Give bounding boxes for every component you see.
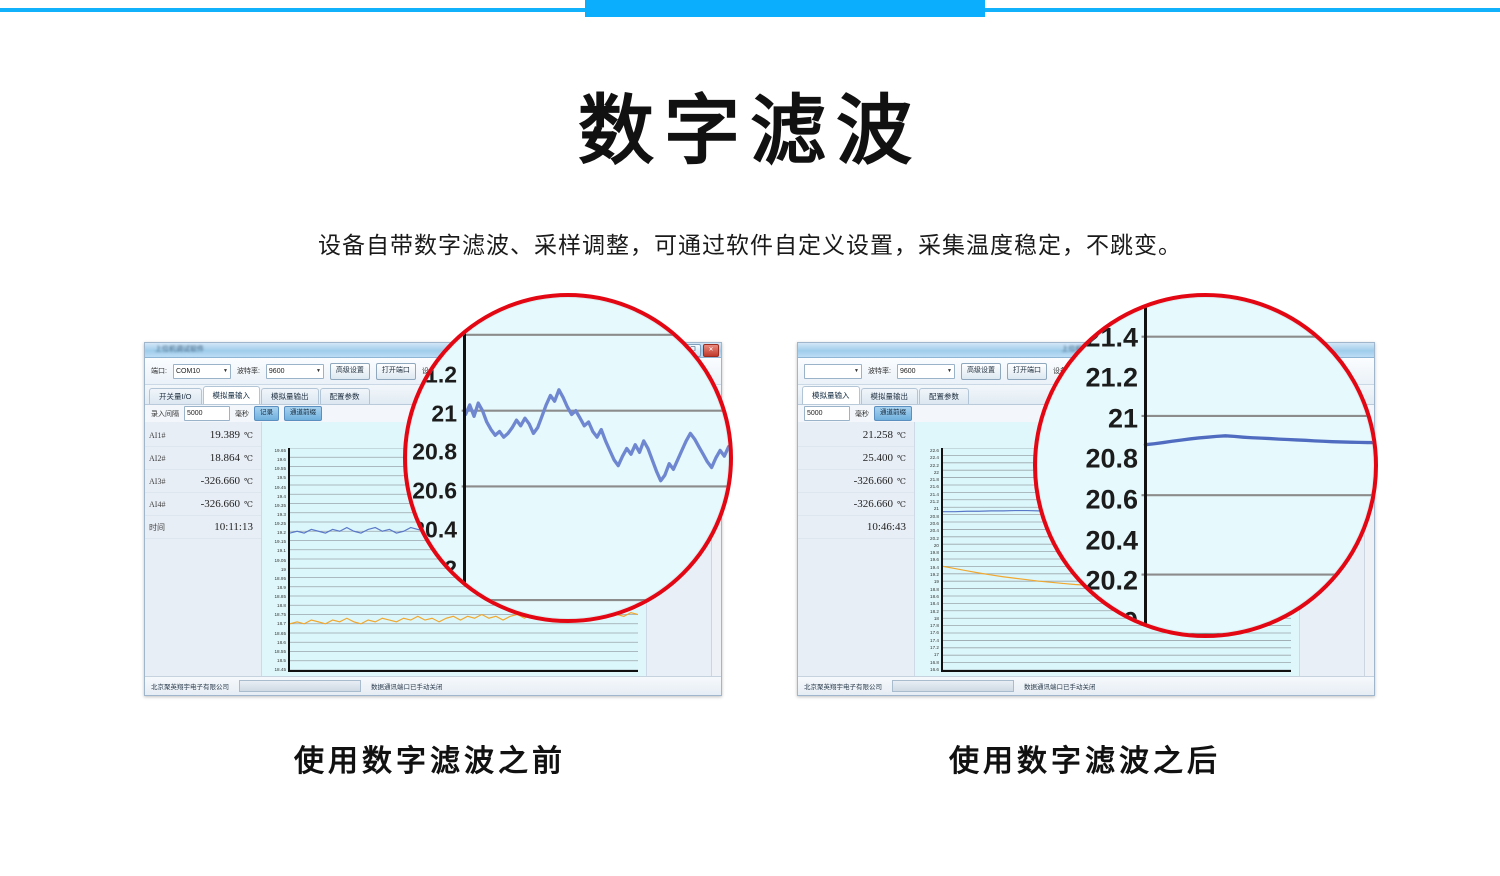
magnifier-content: 21.421.22120.820.620.420.220: [1037, 297, 1374, 634]
y-tick: 19.3: [264, 512, 286, 517]
magnified-y-tick: 21.2: [1085, 363, 1138, 394]
tab-analog-input[interactable]: 模拟量输入: [802, 386, 860, 404]
y-tick: 22.4: [917, 455, 939, 460]
channel-prefix-button[interactable]: 通道前缀: [874, 406, 912, 421]
caption-after: 使用数字滤波之后: [795, 736, 1375, 780]
progress-bar: [892, 680, 1014, 692]
progress-bar: [239, 680, 361, 692]
advanced-settings-button[interactable]: 高级设置: [330, 363, 370, 380]
y-tick: 16.8: [917, 660, 939, 665]
y-tick: 17.4: [917, 638, 939, 643]
y-tick: 18.7: [264, 621, 286, 626]
y-tick: 19.8: [917, 550, 939, 555]
channel-unit: ℃: [244, 500, 253, 509]
y-tick: 18.5: [264, 658, 286, 663]
magnified-y-tick: 21.6: [412, 293, 457, 311]
y-tick: 21: [917, 506, 939, 511]
tab-analog-output[interactable]: 模拟量输出: [861, 388, 919, 404]
magnified-y-tick: 20: [431, 594, 457, 621]
y-tick: 21.6: [917, 484, 939, 489]
y-tick: 21.2: [917, 499, 939, 504]
y-tick: 19.45: [264, 485, 286, 490]
y-tick: 19.65: [264, 448, 286, 453]
y-tick: 18.65: [264, 631, 286, 636]
page-subtitle: 设备自带数字滤波、采样调整，可通过软件自定义设置，采集温度稳定，不跳变。: [0, 226, 1500, 260]
tab-analog-input[interactable]: 模拟量输入: [203, 386, 261, 404]
y-tick: 17.8: [917, 623, 939, 628]
tab-config-params[interactable]: 配置参数: [320, 388, 370, 404]
channel-unit: ℃: [897, 477, 906, 486]
list-item: 10:46:43: [798, 516, 914, 539]
baud-label: 波特率:: [868, 366, 891, 376]
list-item: AI1# 19.389 ℃: [145, 424, 261, 447]
list-item: AI4# -326.660 ℃: [145, 493, 261, 516]
y-tick: 18.55: [264, 649, 286, 654]
list-item: -326.660 ℃: [798, 470, 914, 493]
channel-value: 25.400: [863, 452, 893, 464]
magnified-y-tick: 20.4: [412, 516, 457, 543]
y-tick: 18.6: [917, 594, 939, 599]
tab-config-params[interactable]: 配置参数: [919, 388, 969, 404]
channel-unit: ℃: [897, 431, 906, 440]
page-title: 数字滤波: [0, 94, 1500, 170]
list-item: 25.400 ℃: [798, 447, 914, 470]
magnified-y-tick: 20.4: [1085, 525, 1138, 556]
interval-input[interactable]: 5000: [804, 406, 850, 421]
y-tick: 19.55: [264, 466, 286, 471]
time-value: 10:46:43: [867, 521, 906, 533]
y-tick: 18.6: [264, 640, 286, 645]
baud-select[interactable]: 9600 ▼: [897, 364, 955, 379]
magnified-y-tick: 20.8: [1085, 444, 1138, 475]
baud-select[interactable]: 9600 ▼: [266, 364, 324, 379]
interval-label: 录入间隔: [151, 409, 179, 419]
channel-unit: ℃: [244, 454, 253, 463]
y-tick: 22.2: [917, 463, 939, 468]
company-label: 北京聚英翔宇电子有限公司: [151, 681, 229, 691]
channel-value: -326.660: [201, 498, 240, 510]
y-tick: 18.8: [917, 587, 939, 592]
magnified-y-tick: 21: [431, 400, 457, 427]
magnified-y-tick: 20.6: [412, 478, 457, 505]
list-item: 21.258 ℃: [798, 424, 914, 447]
magnified-y-tick: 20: [1108, 606, 1138, 637]
value-panel-right: 21.258 ℃ 25.400 ℃ -326.660 ℃ -326.660 ℃ …: [798, 422, 915, 696]
y-tick: 19.2: [264, 530, 286, 535]
y-tick: 19.6: [264, 457, 286, 462]
time-value: 10:11:13: [214, 521, 253, 533]
channel-unit: ℃: [244, 431, 253, 440]
list-item: AI2# 18.864 ℃: [145, 447, 261, 470]
channel-value: 21.258: [863, 429, 893, 441]
y-tick: 19.05: [264, 558, 286, 563]
y-tick: 21.4: [917, 492, 939, 497]
magnified-y-tick: 20.2: [1085, 566, 1138, 597]
port-select[interactable]: COM10 ▼: [173, 364, 231, 379]
caption-before: 使用数字滤波之前: [140, 736, 720, 780]
y-tick: 19.25: [264, 521, 286, 526]
channel-prefix-button[interactable]: 通道前缀: [284, 406, 322, 421]
y-tick: 19: [264, 567, 286, 572]
list-item: AI3# -326.660 ℃: [145, 470, 261, 493]
magnifier-before: 21.621.421.22120.820.620.420.220: [403, 293, 733, 623]
y-axis-line: [463, 297, 466, 619]
baud-label: 波特率:: [237, 366, 260, 376]
channel-value: 18.864: [210, 452, 240, 464]
y-tick: 18.95: [264, 576, 286, 581]
y-tick: 17.2: [917, 645, 939, 650]
channel-unit: ℃: [897, 500, 906, 509]
y-tick: 19.4: [264, 494, 286, 499]
magnified-y-tick: 20.2: [412, 555, 457, 582]
y-tick: 18.4: [917, 601, 939, 606]
chevron-down-icon: ▼: [316, 368, 321, 374]
y-tick: 19.15: [264, 539, 286, 544]
y-tick: 18.75: [264, 612, 286, 617]
magnified-y-tick: 20.8: [412, 439, 457, 466]
list-item: -326.660 ℃: [798, 493, 914, 516]
magnified-y-tick: 21.2: [412, 361, 457, 388]
channel-unit: ℃: [897, 454, 906, 463]
y-tick: 20.6: [917, 521, 939, 526]
channel-tag: AI2#: [149, 454, 165, 463]
y-tick: 17.6: [917, 630, 939, 635]
tab-digital-io[interactable]: 开关量I/O: [149, 388, 202, 404]
top-accent-block: [585, 0, 985, 17]
channel-value: 19.389: [210, 429, 240, 441]
list-item: 时间 10:11:13: [145, 516, 261, 539]
y-tick: 22.6: [917, 448, 939, 453]
magnified-y-tick: 21.4: [1085, 322, 1138, 353]
y-tick: 17: [917, 652, 939, 657]
y-tick: 20.4: [917, 528, 939, 533]
port-label: 端口:: [151, 366, 167, 376]
y-tick: 18.45: [264, 667, 286, 672]
y-tick: 19: [917, 579, 939, 584]
y-tick: 20.2: [917, 536, 939, 541]
magnified-y-ticks: 21.421.22120.820.620.420.220: [1037, 297, 1140, 634]
y-tick: 19.35: [264, 503, 286, 508]
port-value: COM10: [176, 368, 200, 375]
magnifier-after: 21.421.22120.820.620.420.220: [1033, 293, 1378, 638]
y-axis-tick-labels: 22.622.422.22221.821.621.421.22120.820.6…: [917, 448, 939, 672]
magnified-y-ticks: 21.621.421.22120.820.620.420.220: [407, 297, 459, 619]
y-tick: 18.85: [264, 594, 286, 599]
magnifier-content: 21.621.421.22120.820.620.420.220: [407, 297, 729, 619]
y-tick: 18.9: [264, 585, 286, 590]
channel-tag: AI3#: [149, 477, 165, 486]
statusbar: 北京聚英翔宇电子有限公司 数据通讯端口已手动关闭: [798, 676, 1374, 695]
y-tick: 20: [917, 543, 939, 548]
y-tick: 16.6: [917, 667, 939, 672]
y-axis-tick-labels: 19.6519.619.5519.519.4519.419.3519.319.2…: [264, 448, 286, 672]
baud-value: 9600: [269, 368, 285, 375]
magnified-y-tick: 20.6: [1085, 484, 1138, 515]
interval-unit-label: 毫秒: [235, 409, 249, 419]
channel-tag: AI4#: [149, 500, 165, 509]
y-tick: 19.2: [917, 572, 939, 577]
value-panel-left: AI1# 19.389 ℃ AI2# 18.864 ℃ AI3# -326.66…: [145, 422, 262, 696]
chevron-down-icon: ▼: [223, 368, 228, 374]
interval-input[interactable]: 5000: [184, 406, 230, 421]
port-select[interactable]: ▼: [804, 364, 862, 379]
chevron-down-icon: ▼: [947, 368, 952, 374]
y-tick: 19.5: [264, 475, 286, 480]
statusbar: 北京聚英翔宇电子有限公司 数据通讯端口已手动关闭: [145, 676, 721, 695]
record-button[interactable]: 记录: [254, 406, 279, 421]
y-tick: 21.8: [917, 477, 939, 482]
company-label: 北京聚英翔宇电子有限公司: [804, 681, 882, 691]
channel-value: -326.660: [854, 498, 893, 510]
y-tick: 18.2: [917, 609, 939, 614]
y-tick: 18.8: [264, 603, 286, 608]
channel-value: -326.660: [854, 475, 893, 487]
time-tag: 时间: [149, 522, 165, 533]
status-message: 数据通讯端口已手动关闭: [1024, 681, 1096, 691]
magnified-y-tick: 21: [1108, 403, 1138, 434]
channel-tag: AI1#: [149, 431, 165, 440]
y-tick: 19.6: [917, 557, 939, 562]
y-tick: 22: [917, 470, 939, 475]
advanced-settings-button[interactable]: 高级设置: [961, 363, 1001, 380]
magnified-y-tick: 21.4: [412, 322, 457, 349]
y-tick: 19.4: [917, 565, 939, 570]
channel-value: -326.660: [201, 475, 240, 487]
chevron-down-icon: ▼: [854, 368, 859, 374]
status-message: 数据通讯端口已手动关闭: [371, 681, 443, 691]
baud-value: 9600: [900, 368, 916, 375]
interval-unit-label: 毫秒: [855, 409, 869, 419]
window-title: 上位机调试软件: [155, 344, 204, 354]
y-tick: 18: [917, 616, 939, 621]
y-axis-line: [1144, 297, 1147, 634]
channel-unit: ℃: [244, 477, 253, 486]
tab-analog-output[interactable]: 模拟量输出: [261, 388, 319, 404]
y-tick: 19.1: [264, 548, 286, 553]
y-tick: 20.8: [917, 514, 939, 519]
